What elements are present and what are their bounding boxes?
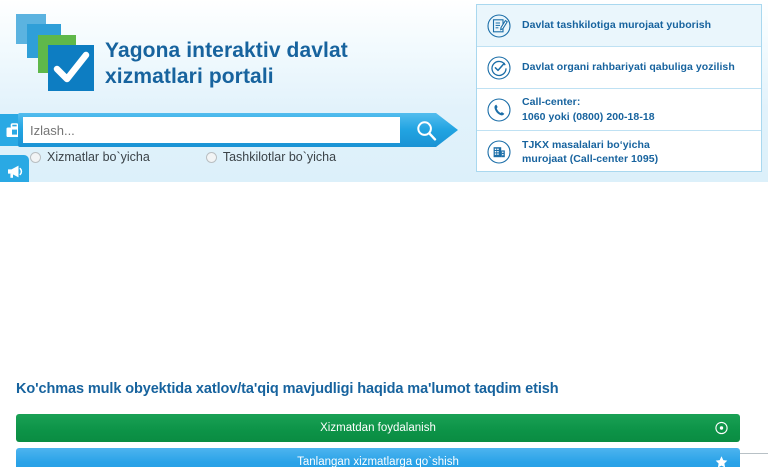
divider-line — [740, 453, 768, 454]
use-service-button[interactable]: Xizmatdan foydalanish — [16, 414, 740, 442]
quick-links-panel: Davlat tashkilotiga murojaat yuborish Da… — [476, 4, 762, 172]
quick-link-tjkx[interactable]: TJKX masalalari bo‘yicha murojaat (Call-… — [477, 131, 761, 173]
search-icon — [416, 120, 437, 141]
page-title: Yagona interaktiv davlat xizmatlari port… — [105, 38, 348, 89]
call-center-label: Call-center: — [522, 96, 580, 108]
radio-services-dot — [30, 152, 41, 163]
add-to-favorites-button[interactable]: Tanlangan xizmatlarga qo`shish — [16, 448, 740, 467]
quick-link-call-center-text: Call-center: 1060 yoki (0800) 200-18-18 — [522, 95, 655, 124]
tjkx-line-2: murojaat (Call-center 1095) — [522, 153, 658, 165]
announcements-megaphone-tab[interactable] — [0, 155, 29, 182]
power-circle-icon — [715, 422, 728, 435]
call-center-number: 1060 yoki (0800) 200-18-18 — [522, 111, 655, 123]
quick-link-call-center[interactable]: Call-center: 1060 yoki (0800) 200-18-18 — [477, 89, 761, 131]
search-bar — [18, 113, 458, 147]
site-title-line-2: xizmatlari portali — [105, 64, 348, 90]
phone-icon — [486, 97, 512, 123]
star-icon — [715, 456, 728, 467]
add-to-favorites-button-label: Tanlangan xizmatlarga qo`shish — [297, 456, 459, 467]
megaphone-icon — [6, 164, 24, 179]
quick-link-reception-signup-label: Davlat organi rahbariyati qabuliga yozil… — [522, 60, 735, 74]
checkmark-icon — [48, 45, 94, 91]
site-logo[interactable] — [16, 14, 104, 90]
radio-organizations-dot — [206, 152, 217, 163]
quick-link-reception-signup[interactable]: Davlat organi rahbariyati qabuliga yozil… — [477, 47, 761, 89]
radio-organizations-label: Tashkilotlar bo`yicha — [223, 150, 336, 164]
radio-services-label: Xizmatlar bo`yicha — [47, 150, 150, 164]
search-input[interactable] — [23, 117, 400, 143]
radio-services[interactable]: Xizmatlar bo`yicha — [30, 150, 150, 164]
clock-check-icon — [486, 55, 512, 81]
site-header: Yagona interaktiv davlat xizmatlari port… — [0, 0, 768, 182]
search-scope-radios: Xizmatlar bo`yicha Tashkilotlar bo`yicha — [30, 150, 336, 164]
quick-link-send-appeal[interactable]: Davlat tashkilotiga murojaat yuborish — [477, 5, 761, 47]
service-page-title: Ko'chmas mulk obyektida xatlov/ta'qiq ma… — [16, 381, 558, 397]
tjkx-line-1: TJKX masalalari bo‘yicha — [522, 139, 650, 151]
quick-link-tjkx-text: TJKX masalalari bo‘yicha murojaat (Call-… — [522, 138, 658, 167]
quick-link-send-appeal-label: Davlat tashkilotiga murojaat yuborish — [522, 18, 711, 32]
radio-organizations[interactable]: Tashkilotlar bo`yicha — [206, 150, 336, 164]
site-title-line-1: Yagona interaktiv davlat — [105, 38, 348, 64]
building-icon — [486, 139, 512, 165]
use-service-button-label: Xizmatdan foydalanish — [320, 422, 436, 434]
document-pen-icon — [486, 13, 512, 39]
search-button[interactable] — [408, 115, 444, 145]
